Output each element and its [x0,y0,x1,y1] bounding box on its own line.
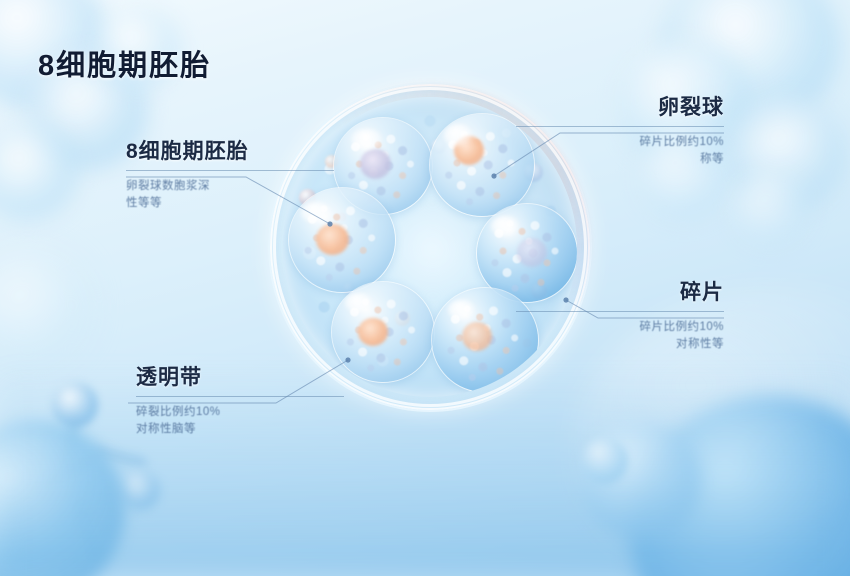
annotation-subtitle-line-2: 称等 [516,151,724,168]
nucleus [517,238,547,267]
highlight [345,293,372,312]
bg-cell-shape [0,250,90,368]
page-title: 8细胞期胚胎 [38,42,211,84]
annotation-title: 卵裂球 [516,96,724,119]
annotation-blastomere[interactable]: 卵裂球 碎片比例约10% 称等 [516,96,724,167]
annotation-title: 碎片 [516,281,724,304]
annotation-embryo[interactable]: 8细胞期胚胎 卵裂球数胞浆深 性等等 [126,140,334,211]
annotation-title: 透明带 [136,366,344,389]
annotation-subtitle-line-1: 碎片比例约10% [516,134,724,151]
annotation-fragment[interactable]: 碎片 碎片比例约10% 对称性等 [516,281,724,352]
annotation-divider [516,311,724,312]
highlight [448,300,475,319]
highlight [491,216,519,236]
annotation-subtitle-line-2: 对称性脑等 [136,421,344,438]
blastomere [331,281,435,383]
annotation-title: 8细胞期胚胎 [126,140,334,163]
annotation-subtitle-line-2: 对称性等 [516,336,724,353]
highlight [444,124,472,146]
bg-cell-shape [732,170,810,246]
nucleus [316,224,349,255]
annotation-subtitle-line-1: 碎片比例约10% [516,319,724,336]
annotation-divider [516,126,724,127]
annotation-zona-pellucida[interactable]: 透明带 碎裂比例约10% 对称性脑等 [136,366,344,437]
infographic-canvas: 8细胞期胚胎 8细胞期胚胎 卵裂球数胞浆深 性等等 卵裂球 碎片比例约10% 称… [0,0,850,576]
nucleus [358,318,388,346]
annotation-subtitle-line-1: 卵裂球数胞浆深 [126,178,334,195]
highlight [352,129,382,149]
nucleus [360,149,391,179]
nucleus [462,322,492,351]
annotation-subtitle-line-2: 性等等 [126,195,334,212]
annotation-divider [126,170,334,171]
annotation-subtitle-line-1: 碎裂比例约10% [136,404,344,421]
annotation-divider [136,396,344,397]
